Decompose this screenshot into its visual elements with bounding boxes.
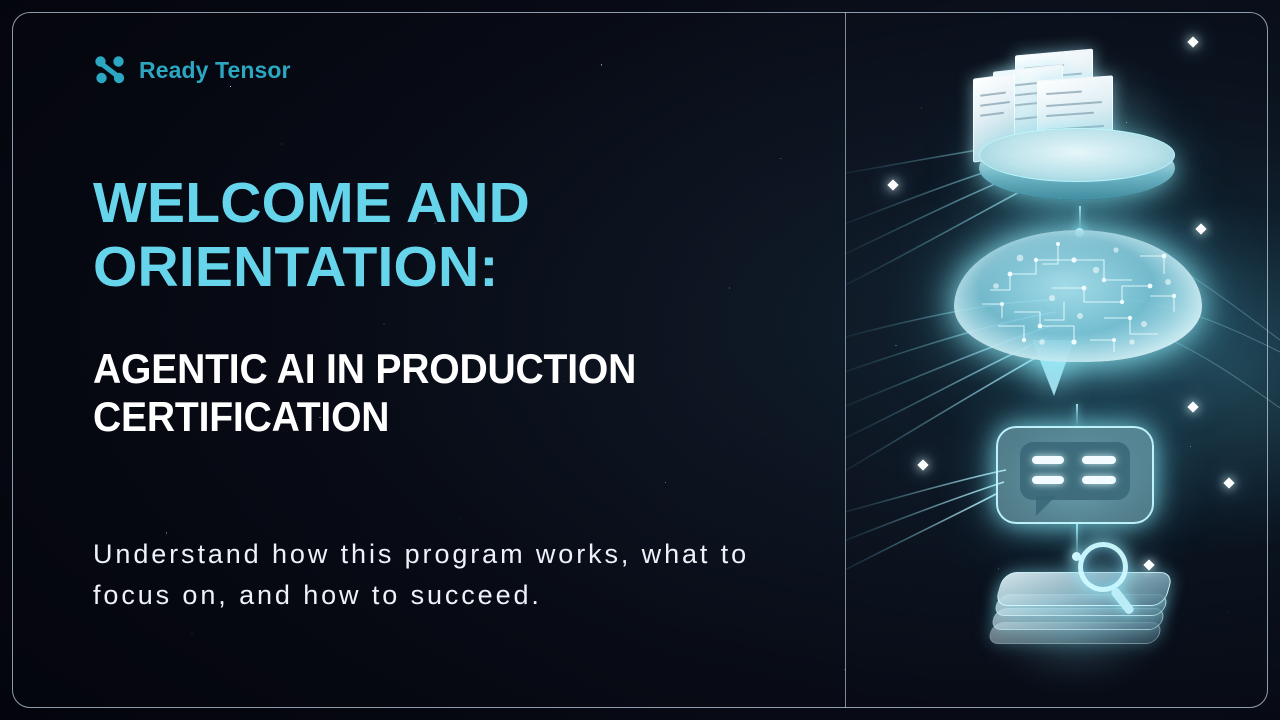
sparkle-icon — [1194, 222, 1208, 236]
node-documents — [961, 40, 1191, 210]
sparkle-icon — [916, 458, 930, 472]
node-chat-bubble — [986, 420, 1166, 540]
illustration-panel — [846, 0, 1280, 720]
brain-circuit-traces — [954, 230, 1202, 362]
sparkle-icon — [886, 178, 900, 192]
document-platform-top — [979, 128, 1175, 182]
ready-tensor-network-logo-icon — [92, 52, 128, 88]
presentation-slide: Ready Tensor WELCOME AND ORIENTATION: AG… — [0, 0, 1280, 720]
panel-divider — [845, 12, 846, 708]
magnifying-glass-icon — [1078, 542, 1128, 592]
sparkle-icon — [1186, 400, 1200, 414]
sparkle-icon — [1222, 476, 1236, 490]
sparkle-icon — [1186, 35, 1200, 49]
content-panel: Ready Tensor WELCOME AND ORIENTATION: AG… — [0, 0, 845, 720]
node-ai-brain — [932, 212, 1222, 412]
page-title: WELCOME AND ORIENTATION: — [93, 172, 793, 300]
headline-line-2: ORIENTATION: — [93, 236, 793, 300]
description-text: Understand how this program works, what … — [93, 534, 793, 616]
brand-name-text: Ready Tensor — [139, 57, 291, 84]
sparkle-icon — [1142, 558, 1156, 572]
node-data-stack — [966, 556, 1186, 686]
brand-lockup[interactable]: Ready Tensor — [92, 52, 291, 88]
subtitle: AGENTIC AI IN PRODUCTION CERTIFICATION — [93, 345, 763, 441]
chat-bubble-inner — [1020, 442, 1130, 500]
headline-line-1: WELCOME AND — [93, 171, 530, 235]
